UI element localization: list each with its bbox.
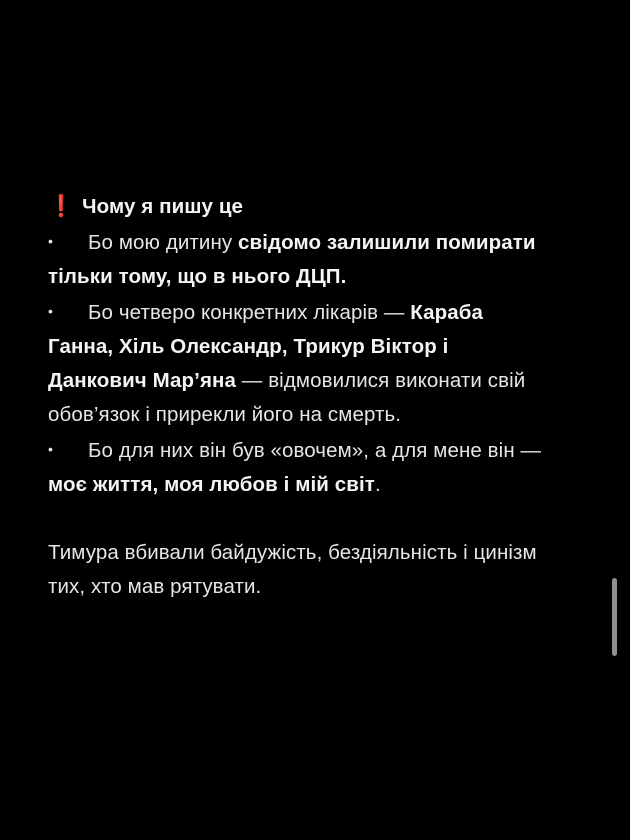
list-item-segment: . [375,473,381,496]
scrollbar-thumb[interactable] [612,578,617,656]
post-heading-text: Чому я пишу це [82,195,243,218]
list-item: •Бо мою дитину свідомо залишили помирати… [48,224,548,294]
list-item: •Бо для них він був «овочем», а для мене… [48,432,548,502]
reasons-bullet-list: •Бо мою дитину свідомо залишили помирати… [48,224,548,502]
post-screen: ❗Чому я пишу це •Бо мою дитину свідомо з… [0,0,630,840]
bullet-marker-icon: • [48,224,88,258]
list-item-text: •Бо четверо конкретних лікарів — Караба … [48,294,548,432]
list-item-text: •Бо для них він був «овочем», а для мене… [48,432,548,502]
list-item-segment-bold: моє життя, моя любов і мій світ [48,473,375,496]
list-item-text: •Бо мою дитину свідомо залишили помирати… [48,224,548,294]
scrollbar-track[interactable] [611,0,618,840]
list-item: •Бо четверо конкретних лікарів — Караба … [48,294,548,432]
list-item-segment: Бо четверо конкретних лікарів — [88,301,410,324]
red-exclamation-mark-icon: ❗ [48,190,74,224]
closing-paragraph: Тимура вбивали байдужість, бездіяльність… [48,536,548,604]
bullet-marker-icon: • [48,432,88,466]
list-item-segment: Бо мою дитину [88,231,238,254]
post-heading: ❗Чому я пишу це [48,190,548,224]
bullet-marker-icon: • [48,294,88,328]
paragraph-spacer [48,502,548,536]
post-content: ❗Чому я пишу це •Бо мою дитину свідомо з… [48,190,548,604]
list-item-segment: Бо для них він був «овочем», а для мене … [88,439,541,462]
